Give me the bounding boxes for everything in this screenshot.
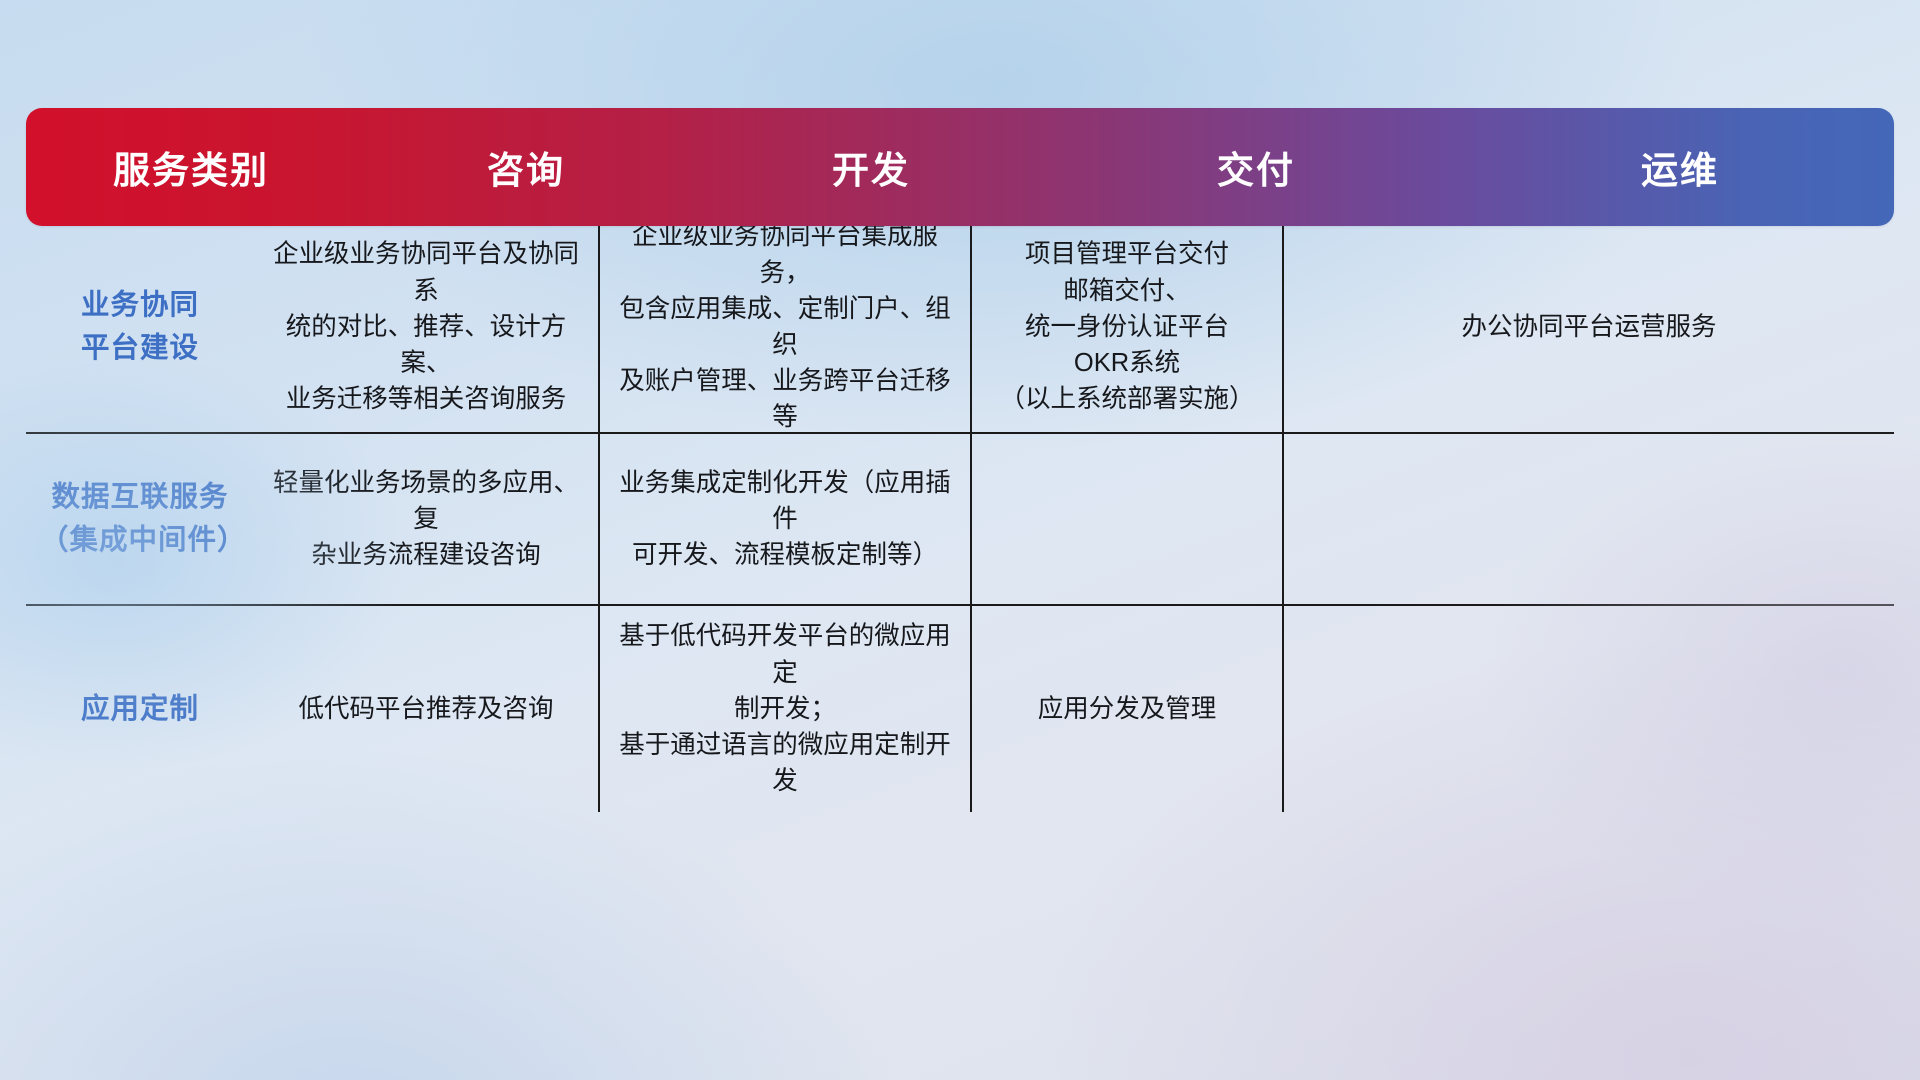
table-header-cell-delivery: 交付 [1046,108,1466,226]
cell-consulting: 企业级业务协同平台及协同系 统的对比、推荐、设计方案、 业务迁移等相关咨询服务 [254,222,600,432]
table-row: 业务协同 平台建设 企业级业务协同平台及协同系 统的对比、推荐、设计方案、 业务… [26,222,1894,434]
cell-consulting: 低代码平台推荐及咨询 [254,606,600,812]
cell-delivery: 项目管理平台交付 邮箱交付、 统一身份认证平台 OKR系统 （以上系统部署实施） [972,222,1284,432]
table-header-row: 服务类别 咨询 开发 交付 运维 [26,108,1894,226]
table-body: 业务协同 平台建设 企业级业务协同平台及协同系 统的对比、推荐、设计方案、 业务… [26,222,1894,812]
service-matrix-table: 服务类别 咨询 开发 交付 运维 业务协同 平台建设 企业级业务协同平台及协同系… [26,108,1894,812]
cell-operations [1284,606,1894,812]
cell-development: 业务集成定制化开发（应用插件 可开发、流程模板定制等） [600,434,972,604]
table-row: 应用定制 低代码平台推荐及咨询 基于低代码开发平台的微应用定 制开发； 基于通过… [26,606,1894,812]
row-label-app-customization: 应用定制 [26,606,254,812]
table-header-cell-operations: 运维 [1466,108,1894,226]
cell-operations [1284,434,1894,604]
cell-development: 企业级业务协同平台集成服务， 包含应用集成、定制门户、组织 及账户管理、业务跨平… [600,222,972,432]
row-label-data-interconnect: 数据互联服务 （集成中间件） [26,434,254,604]
slide-canvas: 服务类别 咨询 开发 交付 运维 业务协同 平台建设 企业级业务协同平台及协同系… [0,0,1920,1080]
cell-operations: 办公协同平台运营服务 [1284,222,1894,432]
cell-delivery: 应用分发及管理 [972,606,1284,812]
row-label-business-collaboration: 业务协同 平台建设 [26,222,254,432]
table-header-cell-development: 开发 [696,108,1046,226]
table-row: 数据互联服务 （集成中间件） 轻量化业务场景的多应用、复 杂业务流程建设咨询 业… [26,434,1894,606]
cell-delivery [972,434,1284,604]
table-header-cell-service-category: 服务类别 [26,108,356,226]
table-header-cell-consulting: 咨询 [356,108,696,226]
cell-consulting: 轻量化业务场景的多应用、复 杂业务流程建设咨询 [254,434,600,604]
cell-development: 基于低代码开发平台的微应用定 制开发； 基于通过语言的微应用定制开发 [600,606,972,812]
